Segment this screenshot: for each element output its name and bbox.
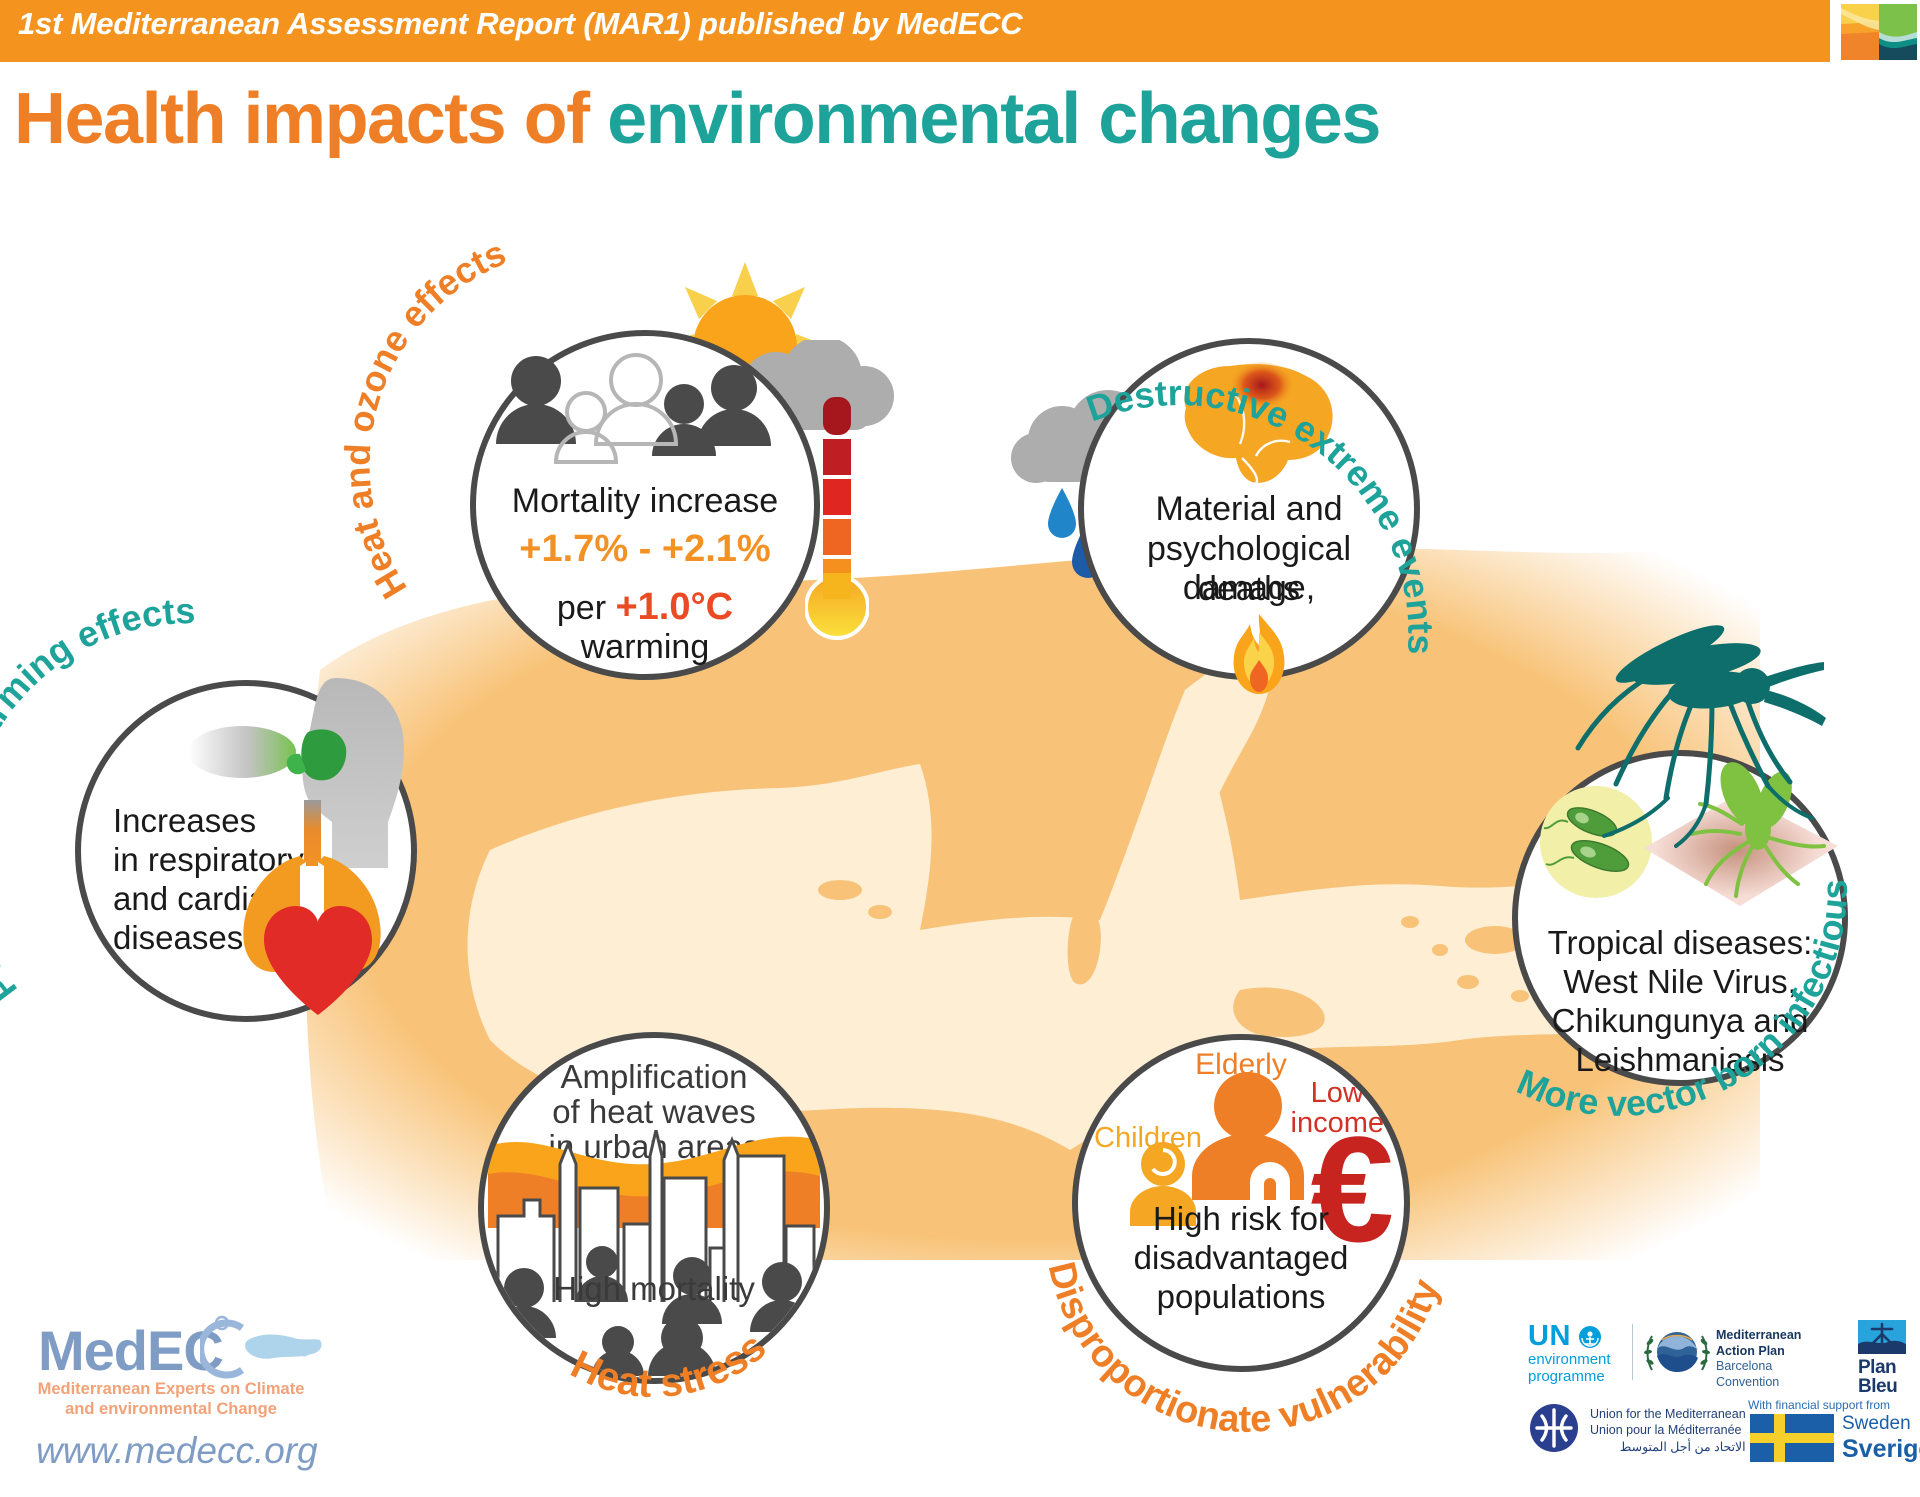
bubble-heat-ozone-line-1: Mortality increase xyxy=(476,482,814,521)
partner-logos: UN environment programme xyxy=(1528,1318,1920,1478)
medecc-subtitle: Mediterranean Experts on Climate and env… xyxy=(26,1380,316,1420)
ufm-logo-text: Union for the Mediterranean Union pour l… xyxy=(1590,1406,1746,1455)
map-line4: Convention xyxy=(1716,1375,1801,1391)
bubble-heat-stress[interactable]: Amplification of heat waves in urban are… xyxy=(478,1032,830,1384)
sweden-support-text: With financial support from xyxy=(1748,1398,1890,1412)
bubble-extreme-events[interactable]: Material and psychological damage, death… xyxy=(1078,338,1420,680)
logo-divider xyxy=(1632,1324,1633,1380)
brain-icon xyxy=(1156,360,1356,490)
page-title-part1: Health impacts of xyxy=(14,79,607,159)
sweden-names: Sweden Sverige xyxy=(1842,1414,1920,1462)
bubble-heat-stress-line-4: High mortality xyxy=(484,1270,824,1308)
plan-bleu-icon xyxy=(1858,1320,1906,1354)
map-barcelona-convention-icon xyxy=(1644,1322,1710,1382)
medecc-wordmark: MedEC xyxy=(38,1318,223,1383)
bubble-vulnerability-line-3: populations xyxy=(1078,1278,1404,1316)
bubble-vector-line-4: Leishmaniasis xyxy=(1518,1041,1842,1079)
bubble-vulnerability[interactable]: Elderly Low income Children € High risk … xyxy=(1072,1034,1410,1372)
ufm-line1: Union for the Mediterranean xyxy=(1590,1406,1746,1422)
skin-bite-icon xyxy=(1622,756,1852,936)
un-environment-logo[interactable]: UN environment programme xyxy=(1528,1322,1611,1386)
plan-bleu-line2: Bleu xyxy=(1858,1378,1906,1397)
map-line3: Barcelona xyxy=(1716,1359,1801,1375)
bubble-heat-ozone-degree: +1.0°C xyxy=(615,586,733,628)
people-icon xyxy=(484,1246,824,1376)
page-title: Health impacts of environmental changes xyxy=(14,78,1380,160)
plan-bleu-logo[interactable]: Plan Bleu xyxy=(1858,1320,1906,1396)
medecc-logo[interactable]: MedEC Mediterranean Experts on Climate a… xyxy=(18,1318,338,1478)
medecc-url[interactable]: www.medecc.org xyxy=(36,1430,318,1472)
un-wordmark: UN xyxy=(1528,1322,1571,1351)
bubble-pollution-line-4: diseases xyxy=(81,919,243,957)
un-line3: programme xyxy=(1528,1368,1611,1385)
medecc-banner-logo xyxy=(1838,2,1920,62)
sweden-flag-icon xyxy=(1750,1414,1834,1462)
bubble-vulnerability-line-1: High risk for xyxy=(1078,1200,1404,1238)
ufm-logo-icon xyxy=(1528,1402,1580,1454)
bubble-heat-ozone-line-2: +1.7% - +2.1% xyxy=(476,528,814,571)
bubble-pollution-line-3: and cardiac xyxy=(81,880,284,918)
un-line2: environment xyxy=(1528,1351,1611,1368)
bubble-pollution-line-2: in respiratory xyxy=(81,841,304,879)
adult-person-icon xyxy=(1186,1070,1312,1200)
bubble-heat-ozone-line-4: warming xyxy=(476,628,814,667)
sweden-sv: Sverige xyxy=(1842,1437,1920,1462)
medecc-mediterranean-icon xyxy=(200,1314,328,1380)
sweden-en: Sweden xyxy=(1842,1414,1920,1433)
header-banner: 1st Mediterranean Assessment Report (MAR… xyxy=(0,0,1830,62)
medecc-subtitle-line1: Mediterranean Experts on Climate xyxy=(26,1380,316,1400)
plan-bleu-line1: Plan xyxy=(1858,1359,1906,1378)
map-line2: Action Plan xyxy=(1716,1344,1801,1360)
bubble-vector-line-3: Chikungunya and xyxy=(1518,1002,1842,1040)
page-title-part2: environmental changes xyxy=(607,79,1380,159)
bubble-extreme-line-3: deaths xyxy=(1084,570,1414,609)
bubble-vector-line-2: West Nile Virus, xyxy=(1518,963,1842,1001)
bubble-heat-ozone-line-3: per +1.0°C xyxy=(476,586,814,629)
ufm-line2: Union pour la Méditerranée xyxy=(1590,1422,1746,1438)
un-globe-icon xyxy=(1577,1324,1603,1350)
header-banner-text: 1st Mediterranean Assessment Report (MAR… xyxy=(18,6,1023,42)
bubble-vector-diseases[interactable]: Tropical diseases: West Nile Virus, Chik… xyxy=(1512,750,1848,1086)
flame-icon xyxy=(1224,612,1294,698)
bubble-heat-ozone[interactable]: Mortality increase +1.7% - +2.1% per +1.… xyxy=(470,330,820,680)
bubble-vulnerability-line-2: disadvantaged xyxy=(1078,1239,1404,1277)
ufm-line3: الاتحاد من أجل المتوسط xyxy=(1590,1439,1746,1455)
bubble-pollution-line-1: Increases xyxy=(81,802,256,840)
map-logo-text: Mediterranean Action Plan Barcelona Conv… xyxy=(1716,1328,1801,1390)
bubble-heat-ozone-per: per xyxy=(557,589,616,627)
bubble-vector-line-1: Tropical diseases: xyxy=(1518,924,1842,962)
medecc-subtitle-line2: and environmental Change xyxy=(26,1400,316,1420)
map-line1: Mediterranean xyxy=(1716,1328,1801,1344)
bubble-pollution-warming[interactable]: Increases in respiratory and cardiac dis… xyxy=(75,680,417,1022)
bubble-extreme-line-1: Material and xyxy=(1084,490,1414,529)
infographic-canvas: 1st Mediterranean Assessment Report (MAR… xyxy=(0,0,1920,1478)
